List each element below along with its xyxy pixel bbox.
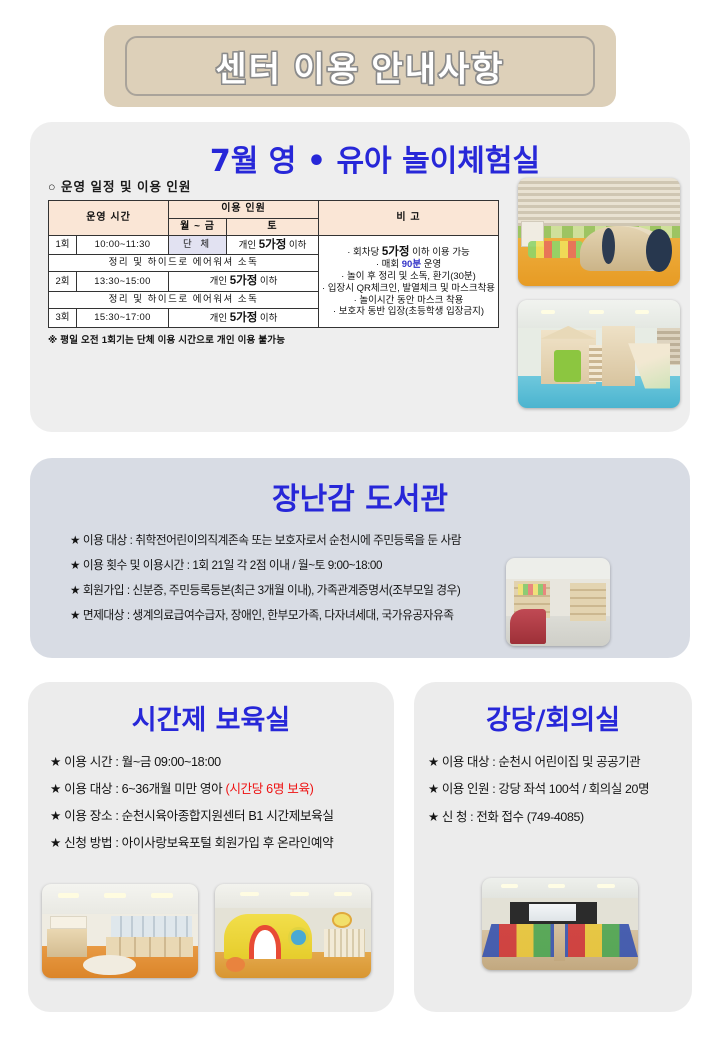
list-item: ★ 이용 대상 : 6~36개월 미만 영아 (시간당 6명 보육): [50, 776, 394, 803]
page-title: 센터 이용 안내사항: [215, 42, 504, 91]
toy-library-photo: [506, 558, 610, 646]
cap-value: 5가정: [259, 239, 287, 251]
remark-cell: · 회차당 5가정 이하 이용 가능 · 매회 90분 운영 · 놀이 후 정리…: [319, 236, 499, 328]
cap-prefix: 개인: [239, 240, 256, 251]
hourly-care-list: ★ 이용 시간 : 월~금 09:00~18:00 ★ 이용 대상 : 6~36…: [28, 749, 394, 857]
cleaning-note: 정리 및 하이드로 에어워셔 소독: [49, 291, 319, 308]
th-capacity: 이용 인원: [169, 201, 319, 219]
hall-photo: [482, 878, 638, 970]
cleaning-note: 정리 및 하이드로 에어워셔 소독: [49, 255, 319, 272]
session-label: 2회: [49, 272, 77, 291]
remark-item: · 보호자 동반 입장(초등학생 입장금지): [321, 306, 496, 318]
capacity-highlight: (시간당 6명 보육): [225, 782, 313, 796]
list-item: ★ 이용 대상 : 취학전어린이의직계존속 또는 보호자로서 순천시에 주민등록…: [70, 528, 652, 553]
hourly-care-photo-playstructure: [215, 884, 371, 978]
th-operating-time: 운영 시간: [49, 201, 169, 236]
poster-title-banner: 센터 이용 안내사항: [104, 25, 616, 107]
playroom-photo-tunnel: [518, 178, 680, 286]
section-hourly-care-heading: 시간제 보육실: [28, 698, 394, 737]
playroom-schedule-table: 운영 시간 이용 인원 비 고 월 ~ 금 토 1회 10:00~11:30 단…: [48, 200, 499, 328]
session-time: 15:30~17:00: [77, 308, 169, 327]
list-item: ★ 이용 대상 : 순천시 어린이집 및 공공기관: [428, 749, 692, 776]
session-label: 1회: [49, 236, 77, 255]
merged-capacity: 개인 5가정 이하: [169, 272, 319, 291]
section-playroom-heading: 7월 영 • 유아 놀이체험실: [30, 136, 690, 180]
playroom-table-caption: ○ 운영 일정 및 이용 인원: [48, 176, 498, 195]
hall-list: ★ 이용 대상 : 순천시 어린이집 및 공공기관 ★ 이용 인원 : 강당 좌…: [414, 749, 692, 831]
list-item: ★ 신 청 : 전화 접수 (749-4085): [428, 804, 692, 831]
remark-item: · 입장시 QR체크인, 발열체크 및 마스크착용: [321, 283, 496, 295]
hourly-care-photo-classroom: [42, 884, 198, 978]
th-saturday: 토: [227, 218, 319, 236]
remark-item: · 놀이시간 동안 마스크 착용: [321, 295, 496, 307]
session-label: 3회: [49, 308, 77, 327]
list-item: ★ 이용 인원 : 강당 좌석 100석 / 회의실 20명: [428, 776, 692, 803]
cap-suffix: 이하: [289, 240, 306, 251]
playroom-schedule-block: ○ 운영 일정 및 이용 인원 운영 시간 이용 인원 비 고 월 ~ 금 토 …: [48, 176, 498, 346]
session-time: 13:30~15:00: [77, 272, 169, 291]
remark-item: · 매회 90분 운영: [321, 259, 496, 271]
weekday-capacity: 단 체: [169, 236, 227, 255]
th-remark: 비 고: [319, 201, 499, 236]
saturday-capacity: 개인 5가정 이하: [227, 236, 319, 255]
remark-item: · 놀이 후 정리 및 소독, 환기(30분): [321, 271, 496, 283]
section-hall-heading: 강당/회의실: [414, 698, 692, 737]
section-toy-library-heading: 장난감 도서관: [30, 474, 690, 518]
merged-capacity: 개인 5가정 이하: [169, 308, 319, 327]
playroom-footnote: ※ 평일 오전 1회기는 단체 이용 시간으로 개인 이용 불가능: [48, 332, 498, 346]
th-weekday: 월 ~ 금: [169, 218, 227, 236]
poster-title-frame: 센터 이용 안내사항: [125, 36, 595, 96]
table-header-row: 운영 시간 이용 인원 비 고: [49, 201, 499, 219]
session-time: 10:00~11:30: [77, 236, 169, 255]
playroom-photo-playhouse: [518, 300, 680, 408]
remark-item: · 회차당 5가정 이하 이용 가능: [321, 245, 496, 259]
list-item: ★ 이용 시간 : 월~금 09:00~18:00: [50, 749, 394, 776]
list-item: ★ 신청 방법 : 아이사랑보육포털 회원가입 후 온라인예약: [50, 830, 394, 857]
table-row: 1회 10:00~11:30 단 체 개인 5가정 이하 · 회차당 5가정 이…: [49, 236, 499, 255]
list-item: ★ 이용 장소 : 순천시육아종합지원센터 B1 시간제보육실: [50, 803, 394, 830]
